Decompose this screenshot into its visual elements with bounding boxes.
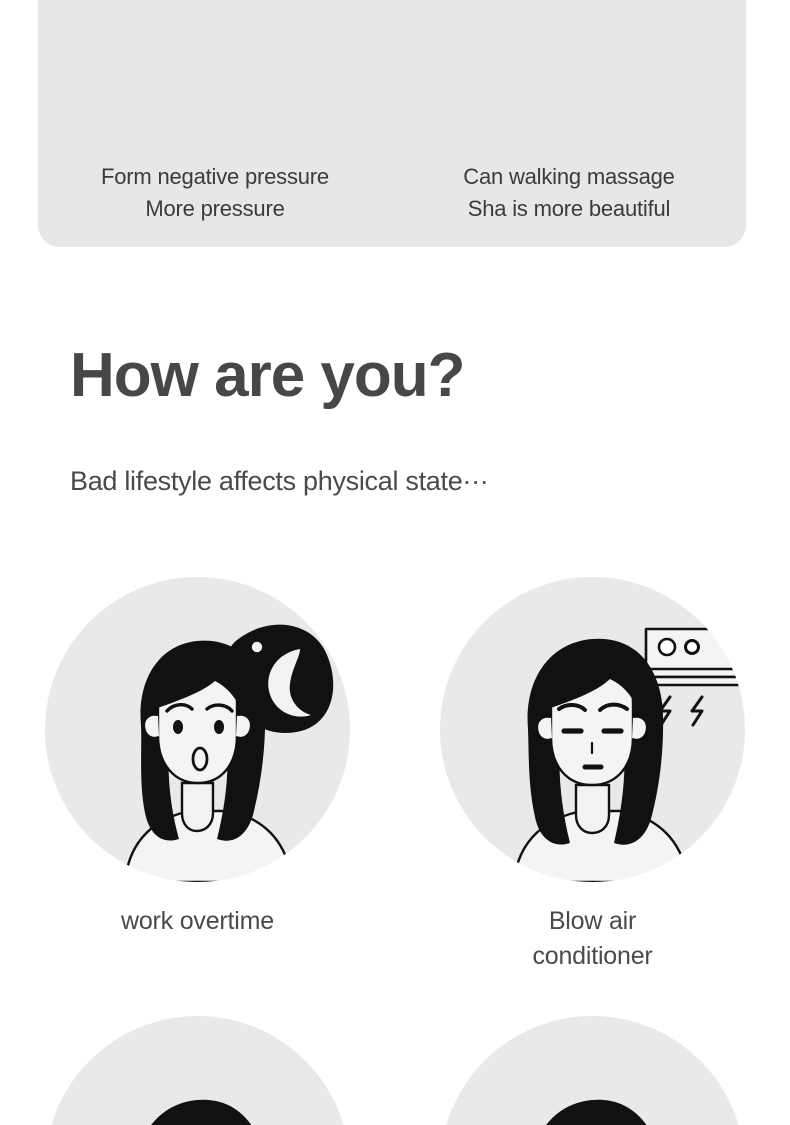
page-subtitle: Bad lifestyle affects physical state··· [70, 466, 488, 497]
feature-item-walking-massage: Can walking massage Sha is more beautifu… [392, 0, 746, 247]
feature-caption-line2: More pressure [101, 193, 329, 225]
feature-caption-line2: Sha is more beautiful [463, 193, 674, 225]
page-title: How are you? [70, 340, 465, 411]
lifestyle-caption-line1: work overtime [121, 907, 274, 935]
lifestyle-caption-line2: conditioner [532, 939, 652, 974]
woman-ac-svg [440, 577, 745, 882]
cupping-cup-tall-icon [454, 0, 684, 161]
woman-with-air-conditioner-illustration [440, 577, 745, 882]
lifestyle-item-blow-air-conditioner: Blow air conditioner [395, 577, 790, 974]
feature-caption: Form negative pressure More pressure [101, 161, 329, 225]
woman-illustration-partial-right [440, 1016, 745, 1125]
product-detail-page: Form negative pressure More pressure [0, 0, 790, 1125]
lifestyle-caption-line1: Blow air [549, 907, 636, 935]
woman-partial-left-svg [45, 1016, 350, 1125]
air-conditioner-icon [646, 629, 745, 685]
woman-night-svg [45, 577, 350, 882]
lifestyle-item-partial-right [395, 1016, 790, 1125]
feature-card: Form negative pressure More pressure [38, 0, 746, 247]
cold-air-zigzag-icon [660, 697, 702, 725]
lifestyle-grid: work overtime [0, 577, 790, 1125]
woman-illustration-partial-left [45, 1016, 350, 1125]
woman-with-night-moon-illustration [45, 577, 350, 882]
cupping-cup-wide-icon [100, 0, 330, 161]
lifestyle-row-1: work overtime [0, 577, 790, 974]
woman-partial-right-svg [440, 1016, 745, 1125]
lifestyle-row-2 [0, 1016, 790, 1125]
lifestyle-caption: Blow air conditioner [532, 904, 652, 974]
feature-item-negative-pressure: Form negative pressure More pressure [38, 0, 392, 247]
feature-grid: Form negative pressure More pressure [38, 0, 746, 247]
feature-caption-line1: Can walking massage [463, 164, 674, 189]
feature-caption: Can walking massage Sha is more beautifu… [463, 161, 674, 225]
lifestyle-item-partial-left [0, 1016, 395, 1125]
lifestyle-caption: work overtime [121, 904, 274, 939]
lifestyle-item-work-overtime: work overtime [0, 577, 395, 974]
feature-caption-line1: Form negative pressure [101, 164, 329, 189]
